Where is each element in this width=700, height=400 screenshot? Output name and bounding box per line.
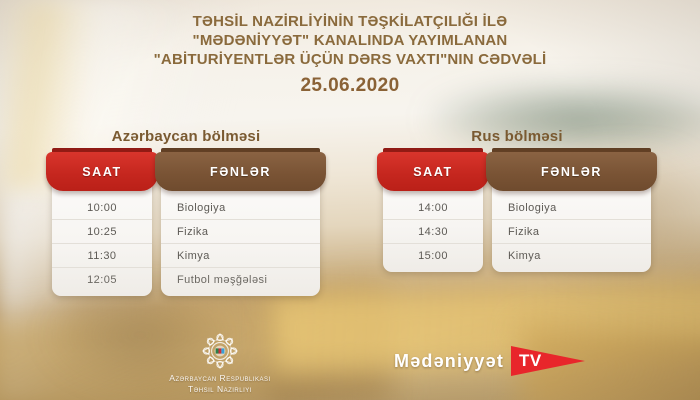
poster-header: TƏHSİL NAZİRLİYİNİN TƏŞKİLATÇILIĞI İLƏ "… [0, 12, 700, 97]
time-header-pill: SAAT [46, 152, 158, 191]
subject-header-label: FƏNLƏR [210, 165, 271, 179]
section-azerbaijani: Azərbaycan bölməsi SAAT 10:00 10:25 11:3… [52, 128, 320, 296]
section-russian: Rus bölməsi SAAT 14:00 14:30 15:00 [383, 128, 651, 272]
broadcast-date: 25.06.2020 [0, 75, 700, 97]
channel-play-badge: TV [511, 346, 585, 376]
schedule-table-russian: SAAT 14:00 14:30 15:00 FƏNLƏR Biolo [383, 156, 651, 272]
subject-header-pill: FƏNLƏR [486, 152, 657, 191]
channel-tv-label: TV [519, 351, 542, 371]
table-row: Fizika [492, 220, 651, 244]
table-row: 10:25 [52, 220, 152, 244]
time-rows-russian: 14:00 14:30 15:00 [383, 190, 483, 272]
ministry-name-line-2: Təhsil Nazirliyi [131, 384, 309, 395]
schedule-poster: TƏHSİL NAZİRLİYİNİN TƏŞKİLATÇILIĞI İLƏ "… [0, 0, 700, 400]
section-title-russian: Rus bölməsi [383, 128, 651, 145]
ribbon-tail [161, 148, 320, 158]
subject-header-label: FƏNLƏR [541, 165, 602, 179]
channel-logo: Mədəniyyət TV [394, 346, 585, 376]
subject-column-azerbaijani: FƏNLƏR Biologiya Fizika Kimya Futbol məş… [161, 156, 320, 296]
table-row: Biologiya [492, 196, 651, 220]
title-line-2: "MƏDƏNİYYƏT" KANALINDA YAYIMLANAN [0, 31, 700, 50]
time-rows-azerbaijani: 10:00 10:25 11:30 12:05 [52, 190, 152, 296]
table-row: Biologiya [161, 196, 320, 220]
schedule-table-azerbaijani: SAAT 10:00 10:25 11:30 12:05 FƏNLƏR [52, 156, 320, 296]
channel-name: Mədəniyyət [394, 351, 504, 372]
section-title-azerbaijani: Azərbaycan bölməsi [52, 128, 320, 145]
ribbon-tail [52, 148, 152, 158]
table-row: Kimya [161, 244, 320, 268]
table-row: 14:00 [383, 196, 483, 220]
table-row: 15:00 [383, 244, 483, 267]
subject-column-russian: FƏNLƏR Biologiya Fizika Kimya [492, 156, 651, 272]
ministry-emblem-icon [192, 331, 248, 371]
ribbon-tail [383, 148, 483, 158]
table-row: 10:00 [52, 196, 152, 220]
ministry-name-line-1: Azərbaycan Respublikası [131, 373, 309, 384]
time-column-azerbaijani: SAAT 10:00 10:25 11:30 12:05 [52, 156, 152, 296]
table-row: Kimya [492, 244, 651, 267]
time-header-label: SAAT [413, 165, 453, 179]
time-header-label: SAAT [82, 165, 122, 179]
subject-header-pill: FƏNLƏR [155, 152, 326, 191]
subject-rows-russian: Biologiya Fizika Kimya [492, 190, 651, 272]
table-row: 12:05 [52, 268, 152, 291]
ministry-logo: Azərbaycan Respublikası Təhsil Nazirliyi [131, 331, 309, 395]
time-column-russian: SAAT 14:00 14:30 15:00 [383, 156, 483, 272]
table-row: 14:30 [383, 220, 483, 244]
table-row: 11:30 [52, 244, 152, 268]
table-row: Fizika [161, 220, 320, 244]
title-line-3: "ABİTURİYENTLƏR ÜÇÜN DƏRS VAXTI"NIN CƏDV… [0, 50, 700, 69]
table-row: Futbol məşğələsi [161, 268, 320, 291]
title-line-1: TƏHSİL NAZİRLİYİNİN TƏŞKİLATÇILIĞI İLƏ [0, 12, 700, 31]
time-header-pill: SAAT [377, 152, 489, 191]
ribbon-tail [492, 148, 651, 158]
subject-rows-azerbaijani: Biologiya Fizika Kimya Futbol məşğələsi [161, 190, 320, 296]
